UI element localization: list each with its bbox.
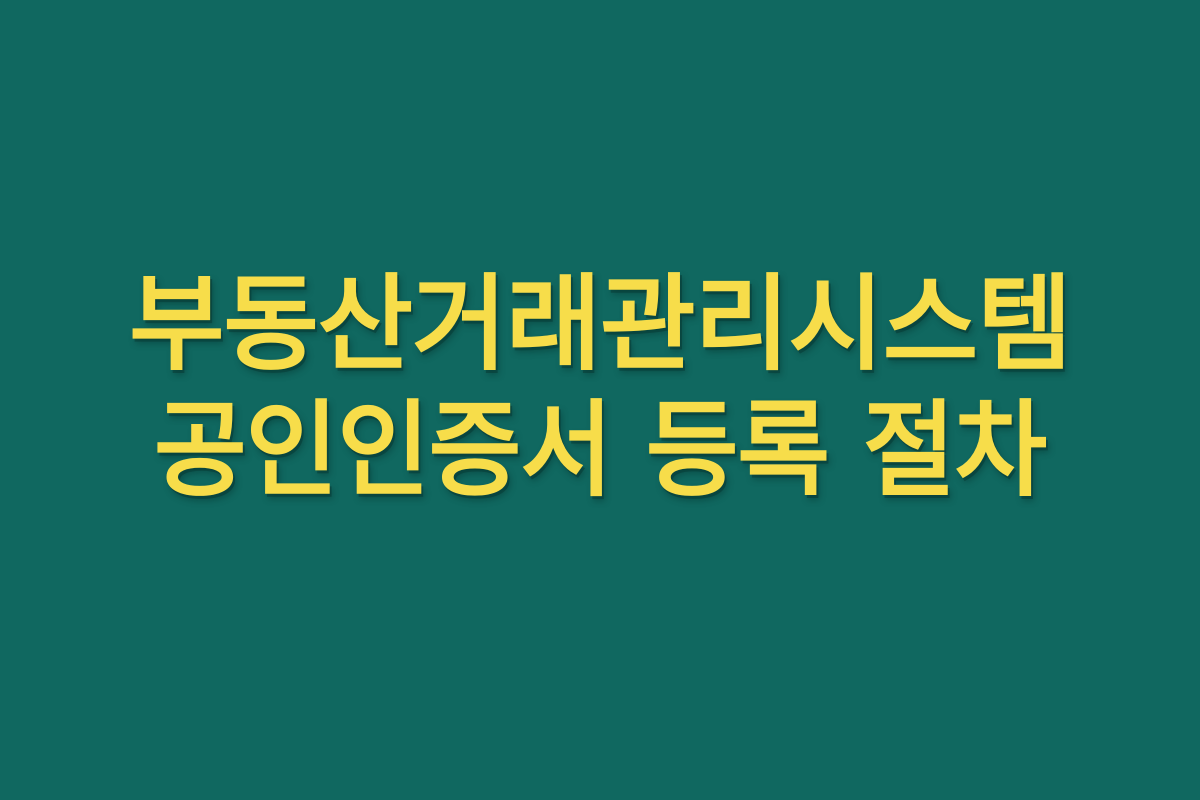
headline-line-secondary: 공인인증서 등록 절차	[9, 398, 1191, 502]
title-card: 부동산거래관리시스템 공인인증서 등록 절차	[0, 0, 1200, 800]
headline-line-primary: 부동산거래관리시스템	[9, 272, 1191, 376]
headline-block: 부동산거래관리시스템 공인인증서 등록 절차	[0, 272, 1200, 502]
